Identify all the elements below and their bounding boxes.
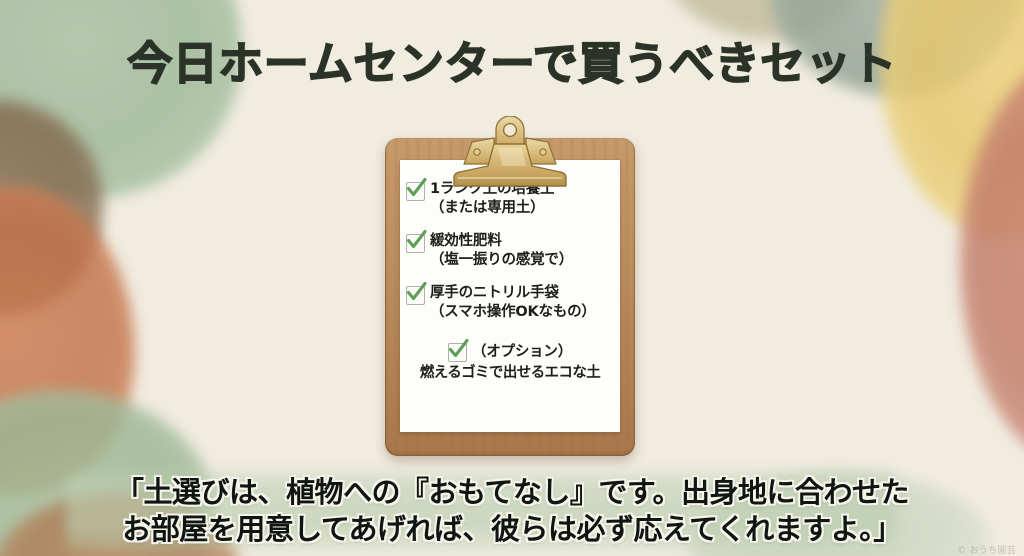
blob-top-right-gold: [880, 0, 1024, 240]
checklist-item-4-line1: （オプション）: [472, 343, 572, 362]
checklist-item-3[interactable]: 厚手のニトリル手袋 （スマホ操作OKなもの）: [406, 284, 614, 321]
slide-canvas: 今日ホームセンターで買うべきセット 1ランク上の培養土 （または専用土）: [0, 0, 1024, 556]
caption-quote: 「土選びは、植物への『おもてなし』です。出身地に合わせた お部屋を用意してあげれ…: [0, 474, 1024, 547]
checklist-item-4[interactable]: （オプション） 燃えるゴミで出せるエコな土: [406, 341, 614, 383]
checklist-item-4-row1: （オプション）: [406, 341, 614, 362]
blob-top-right-olive: [660, 0, 875, 40]
checklist-item-1-line2: （または専用土）: [430, 199, 554, 218]
checkbox-checked-icon[interactable]: [406, 182, 425, 201]
checklist-item-3-line1: 厚手のニトリル手袋: [430, 285, 559, 301]
checklist-item-1-text: 1ランク上の培養土 （または専用土）: [430, 180, 554, 217]
checkbox-checked-icon[interactable]: [448, 343, 467, 362]
caption-line-2: お部屋を用意してあげれば、彼らは必ず応えてくれますよ。」: [0, 511, 1024, 548]
blob-left-terracotta: [0, 186, 135, 496]
checkbox-checked-icon[interactable]: [406, 286, 425, 305]
page-title: 今日ホームセンターで買うべきセット: [0, 40, 1024, 89]
blob-top-left-green: [0, 0, 242, 198]
clipboard: 1ランク上の培養土 （または専用土） 緩効性肥料 （塩一振りの感覚で）: [385, 138, 635, 456]
checklist-item-4-line2: 燃えるゴミで出せるエコな土: [420, 365, 600, 381]
caption-line-1: 「土選びは、植物への『おもてなし』です。出身地に合わせた: [0, 474, 1024, 511]
blob-left-brown: [0, 100, 103, 315]
shopping-checklist: 1ランク上の培養土 （または専用土） 緩効性肥料 （塩一振りの感覚で）: [400, 180, 620, 383]
checklist-item-2[interactable]: 緩効性肥料 （塩一振りの感覚で）: [406, 232, 614, 269]
checklist-item-3-line2: （スマホ操作OKなもの）: [430, 303, 596, 322]
checklist-item-1[interactable]: 1ランク上の培養土 （または専用土）: [406, 180, 614, 217]
checklist-item-2-line1: 緩効性肥料: [430, 233, 502, 249]
watermark: © おうち園芸: [957, 543, 1016, 556]
blob-right-salmon: [960, 52, 1024, 472]
checklist-item-3-text: 厚手のニトリル手袋 （スマホ操作OKなもの）: [430, 284, 596, 321]
checklist-item-2-line2: （塩一振りの感覚で）: [430, 251, 573, 270]
checkbox-checked-icon[interactable]: [406, 234, 425, 253]
checklist-item-2-text: 緩効性肥料 （塩一振りの感覚で）: [430, 232, 573, 269]
checklist-item-1-line1: 1ランク上の培養土: [430, 181, 554, 197]
